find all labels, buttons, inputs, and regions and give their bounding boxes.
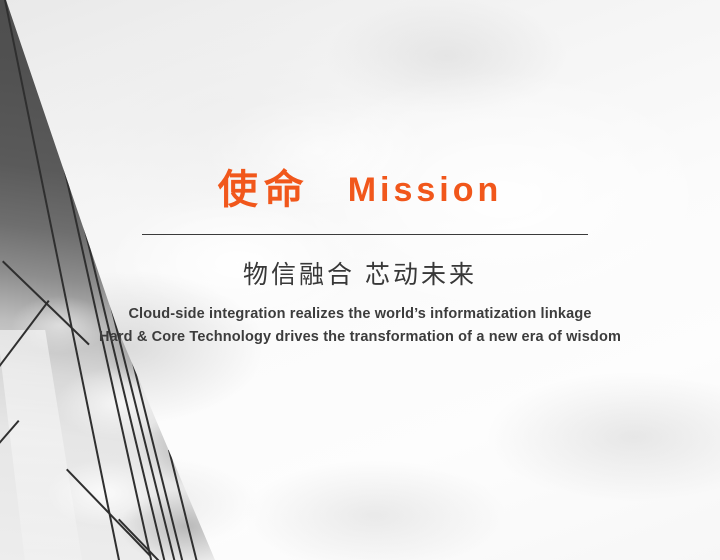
description-block: Cloud-side integration realizes the worl…: [0, 303, 720, 349]
description-line-2: Hard & Core Technology drives the transf…: [0, 326, 720, 349]
title-divider: [142, 234, 588, 235]
mission-banner: 使命Mission 物信融合 芯动未来 Cloud-side integrati…: [0, 0, 720, 560]
title-english: Mission: [348, 173, 503, 207]
page-title: 使命Mission: [0, 170, 720, 210]
title-chinese: 使命: [218, 170, 310, 210]
slogan-text: 物信融合 芯动未来: [0, 259, 720, 292]
banner-content: 使命Mission 物信融合 芯动未来 Cloud-side integrati…: [0, 0, 720, 560]
description-line-1: Cloud-side integration realizes the worl…: [0, 303, 720, 326]
